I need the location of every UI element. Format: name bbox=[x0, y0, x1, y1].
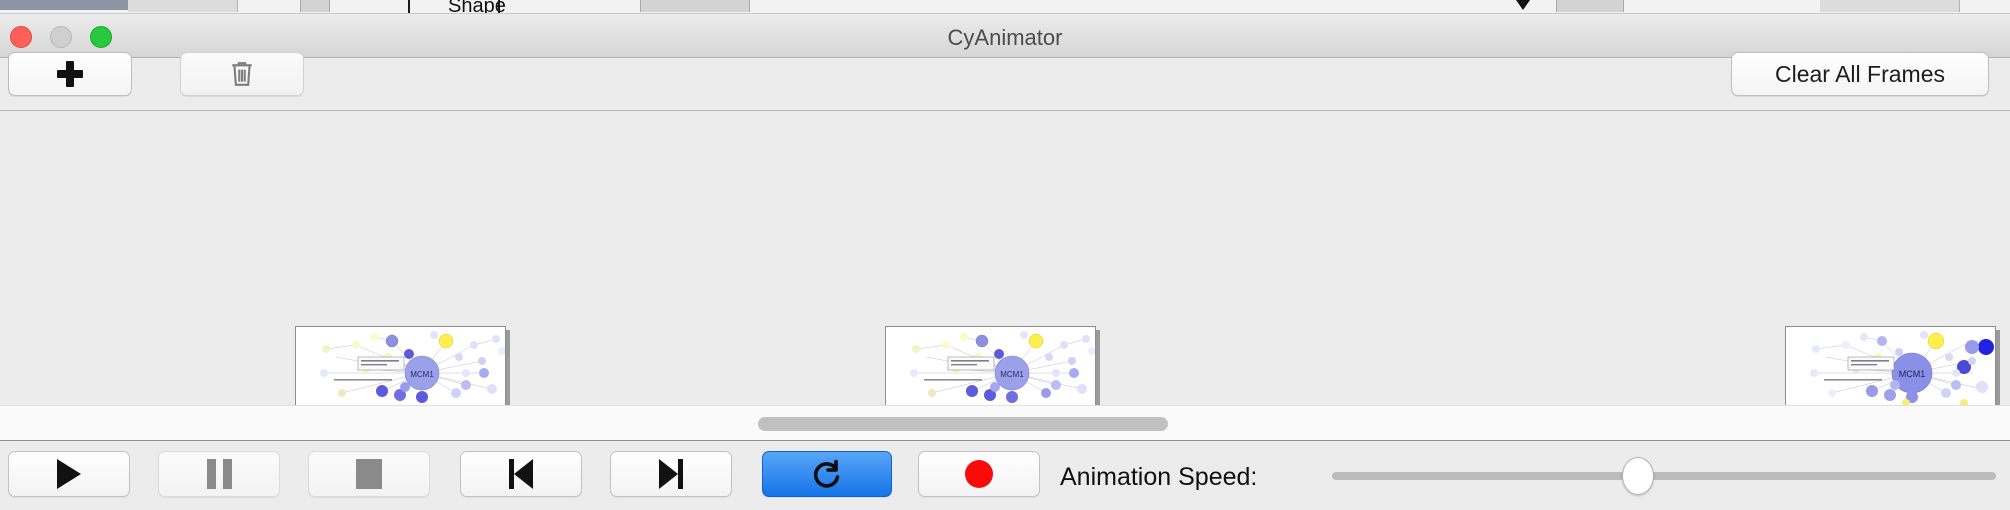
scrollbar-thumb[interactable] bbox=[758, 417, 1168, 431]
playback-controls: Animation Speed: bbox=[0, 442, 2010, 510]
animation-speed-slider[interactable] bbox=[1332, 472, 1996, 480]
frame-thumbnail: MCM1 bbox=[885, 326, 1096, 405]
skip-backward-icon bbox=[509, 459, 533, 489]
timeline-frame-3[interactable]: MCM1 bbox=[1785, 326, 2000, 405]
trash-icon bbox=[229, 59, 255, 89]
timeline-frame-2[interactable]: MCM1 bbox=[885, 326, 1100, 405]
background-tab-a bbox=[300, 0, 330, 12]
plus-icon bbox=[57, 61, 83, 87]
frame-thumbnail: MCM1 bbox=[295, 326, 506, 405]
stop-button[interactable] bbox=[308, 451, 430, 497]
clear-all-frames-button[interactable]: Clear All Frames bbox=[1731, 52, 1989, 96]
record-button[interactable] bbox=[918, 451, 1040, 497]
pause-icon bbox=[207, 459, 232, 489]
stop-icon bbox=[356, 459, 382, 489]
pause-button[interactable] bbox=[158, 451, 280, 497]
background-tab-c bbox=[1556, 0, 1624, 12]
title-bar: CyAnimator bbox=[0, 14, 2010, 58]
svg-text:MCM1: MCM1 bbox=[1899, 369, 1926, 379]
window-title: CyAnimator bbox=[0, 25, 2010, 51]
delete-frame-button[interactable] bbox=[180, 52, 304, 96]
skip-forward-icon bbox=[659, 459, 683, 489]
timeline-frame-1[interactable]: MCM1 bbox=[295, 326, 510, 405]
network-thumbnail-graphic: MCM1 bbox=[1786, 327, 1996, 405]
loop-button[interactable] bbox=[762, 451, 892, 497]
background-window-strip: Shape bbox=[0, 0, 2010, 14]
slider-track[interactable] bbox=[1332, 472, 1996, 480]
background-chrome-segment bbox=[128, 0, 238, 12]
frame-thumbnail: MCM1 bbox=[1785, 326, 1996, 405]
loop-icon bbox=[811, 458, 843, 490]
animation-speed-label: Animation Speed: bbox=[1060, 463, 1257, 492]
prev-frame-button[interactable] bbox=[460, 451, 582, 497]
svg-text:MCM1: MCM1 bbox=[410, 370, 434, 379]
clear-all-frames-label: Clear All Frames bbox=[1775, 61, 1945, 88]
background-tab-b bbox=[640, 0, 750, 12]
network-thumbnail-graphic: MCM1 bbox=[886, 327, 1096, 405]
network-thumbnail-graphic: MCM1 bbox=[296, 327, 506, 405]
cyanimator-window: Shape CyAnimator Clear All Frames bbox=[0, 0, 2010, 510]
background-titlebar-segment bbox=[0, 0, 128, 10]
add-frame-button[interactable] bbox=[8, 52, 132, 96]
slider-thumb[interactable] bbox=[1622, 457, 1654, 495]
background-caret-icon bbox=[1516, 0, 1530, 10]
background-window-label: Shape bbox=[448, 0, 506, 14]
timeline-horizontal-scrollbar[interactable] bbox=[0, 405, 2010, 441]
record-icon bbox=[965, 460, 993, 488]
svg-text:MCM1: MCM1 bbox=[1000, 370, 1024, 379]
background-divider-a bbox=[408, 0, 410, 13]
next-frame-button[interactable] bbox=[610, 451, 732, 497]
play-button[interactable] bbox=[8, 451, 130, 497]
background-chrome-segment-right bbox=[1820, 0, 1960, 12]
play-icon bbox=[57, 459, 81, 489]
timeline-panel[interactable]: MCM1 bbox=[0, 112, 2010, 405]
